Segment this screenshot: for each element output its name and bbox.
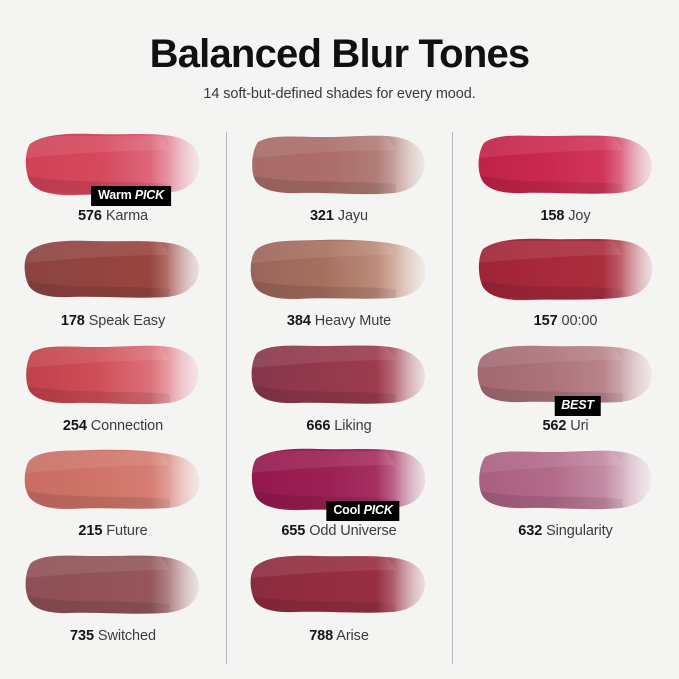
shade-swatch bbox=[20, 548, 206, 620]
shade-swatch bbox=[20, 338, 206, 410]
badge-strong-text: Warm bbox=[98, 188, 131, 202]
shade-number: 632 bbox=[518, 523, 542, 539]
shade-number: 666 bbox=[306, 418, 330, 434]
shade-name: Jayu bbox=[338, 208, 368, 224]
shade-cell[interactable]: 788 Arise bbox=[226, 548, 452, 653]
shade-swatch bbox=[246, 548, 432, 620]
shade-swatch bbox=[246, 128, 432, 200]
shade-name: Future bbox=[106, 523, 147, 539]
shade-name: Speak Easy bbox=[89, 313, 165, 329]
shade-name: 00:00 bbox=[562, 313, 598, 329]
shade-swatch bbox=[246, 233, 432, 305]
shade-label: 157 00:00 bbox=[452, 313, 679, 329]
shade-name: Connection bbox=[91, 418, 163, 434]
shade-label: 215 Future bbox=[0, 523, 226, 539]
shade-label: 384 Heavy Mute bbox=[226, 313, 452, 329]
shade-name: Arise bbox=[336, 628, 369, 644]
shade-cell[interactable]: BEST562 Uri bbox=[452, 338, 679, 443]
shade-column-1: Warm PICK576 Karma178 Speak Easy254 Conn… bbox=[0, 128, 226, 668]
shade-label: 254 Connection bbox=[0, 418, 226, 434]
shade-swatch bbox=[20, 443, 206, 515]
shade-number: 215 bbox=[78, 523, 102, 539]
shade-number: 321 bbox=[310, 208, 334, 224]
shade-number: 178 bbox=[61, 313, 85, 329]
shade-number: 788 bbox=[309, 628, 333, 644]
shade-number: 384 bbox=[287, 313, 311, 329]
shade-cell[interactable]: 157 00:00 bbox=[452, 233, 679, 338]
shade-badge-warm: Warm PICK bbox=[91, 186, 171, 206]
shade-swatch bbox=[473, 233, 659, 305]
shade-cell[interactable]: 321 Jayu bbox=[226, 128, 452, 233]
shade-number: 157 bbox=[534, 313, 558, 329]
shade-name: Joy bbox=[568, 208, 590, 224]
shade-name: Singularity bbox=[546, 523, 613, 539]
shade-badge-best: BEST bbox=[554, 396, 601, 416]
shade-number: 562 bbox=[542, 418, 566, 434]
shade-swatch bbox=[20, 233, 206, 305]
shade-grid: Warm PICK576 Karma178 Speak Easy254 Conn… bbox=[0, 128, 679, 668]
shade-name: Uri bbox=[570, 418, 588, 434]
shade-cell[interactable]: Cool PICK655 Odd Universe bbox=[226, 443, 452, 548]
shade-number: 735 bbox=[70, 628, 94, 644]
badge-italic-text: PICK bbox=[364, 503, 393, 517]
shade-column-2: 321 Jayu384 Heavy Mute666 LikingCool PIC… bbox=[226, 128, 452, 668]
shade-name: Liking bbox=[334, 418, 371, 434]
shade-cell[interactable]: 178 Speak Easy bbox=[0, 233, 226, 338]
column-divider-2 bbox=[452, 132, 453, 664]
shade-number: 576 bbox=[78, 208, 102, 224]
shade-cell[interactable]: Warm PICK576 Karma bbox=[0, 128, 226, 233]
shade-badge-cool: Cool PICK bbox=[326, 501, 399, 521]
badge-strong-text: Cool bbox=[333, 503, 360, 517]
shade-cell[interactable]: 735 Switched bbox=[0, 548, 226, 653]
shade-name: Switched bbox=[98, 628, 156, 644]
page-root: Balanced Blur Tones 14 soft-but-defined … bbox=[0, 0, 679, 679]
shade-cell[interactable]: 215 Future bbox=[0, 443, 226, 548]
shade-label: 666 Liking bbox=[226, 418, 452, 434]
badge-italic-text: PICK bbox=[135, 188, 164, 202]
shade-swatch bbox=[473, 443, 659, 515]
shade-label: 735 Switched bbox=[0, 628, 226, 644]
shade-label: 655 Odd Universe bbox=[226, 523, 452, 539]
shade-number: 655 bbox=[281, 523, 305, 539]
shade-cell[interactable]: 632 Singularity bbox=[452, 443, 679, 548]
shade-name: Odd Universe bbox=[309, 523, 396, 539]
shade-label: 788 Arise bbox=[226, 628, 452, 644]
shade-name: Karma bbox=[106, 208, 148, 224]
page-title: Balanced Blur Tones bbox=[0, 33, 679, 75]
shade-number: 254 bbox=[63, 418, 87, 434]
page-header: Balanced Blur Tones 14 soft-but-defined … bbox=[0, 0, 679, 102]
shade-number: 158 bbox=[540, 208, 564, 224]
shade-cell[interactable]: 254 Connection bbox=[0, 338, 226, 443]
shade-label: 158 Joy bbox=[452, 208, 679, 224]
shade-cell[interactable]: 666 Liking bbox=[226, 338, 452, 443]
shade-cell[interactable]: 384 Heavy Mute bbox=[226, 233, 452, 338]
shade-label: 632 Singularity bbox=[452, 523, 679, 539]
shade-name: Heavy Mute bbox=[315, 313, 391, 329]
shade-swatch bbox=[246, 338, 432, 410]
column-divider-1 bbox=[226, 132, 227, 664]
shade-label: 562 Uri bbox=[452, 418, 679, 434]
badge-italic-text: BEST bbox=[561, 398, 594, 412]
shade-column-3: 158 Joy157 00:00BEST562 Uri632 Singulari… bbox=[452, 128, 679, 668]
shade-swatch bbox=[473, 128, 659, 200]
page-subtitle: 14 soft-but-defined shades for every moo… bbox=[0, 86, 679, 102]
shade-label: 321 Jayu bbox=[226, 208, 452, 224]
shade-cell[interactable]: 158 Joy bbox=[452, 128, 679, 233]
shade-label: 178 Speak Easy bbox=[0, 313, 226, 329]
shade-label: 576 Karma bbox=[0, 208, 226, 224]
